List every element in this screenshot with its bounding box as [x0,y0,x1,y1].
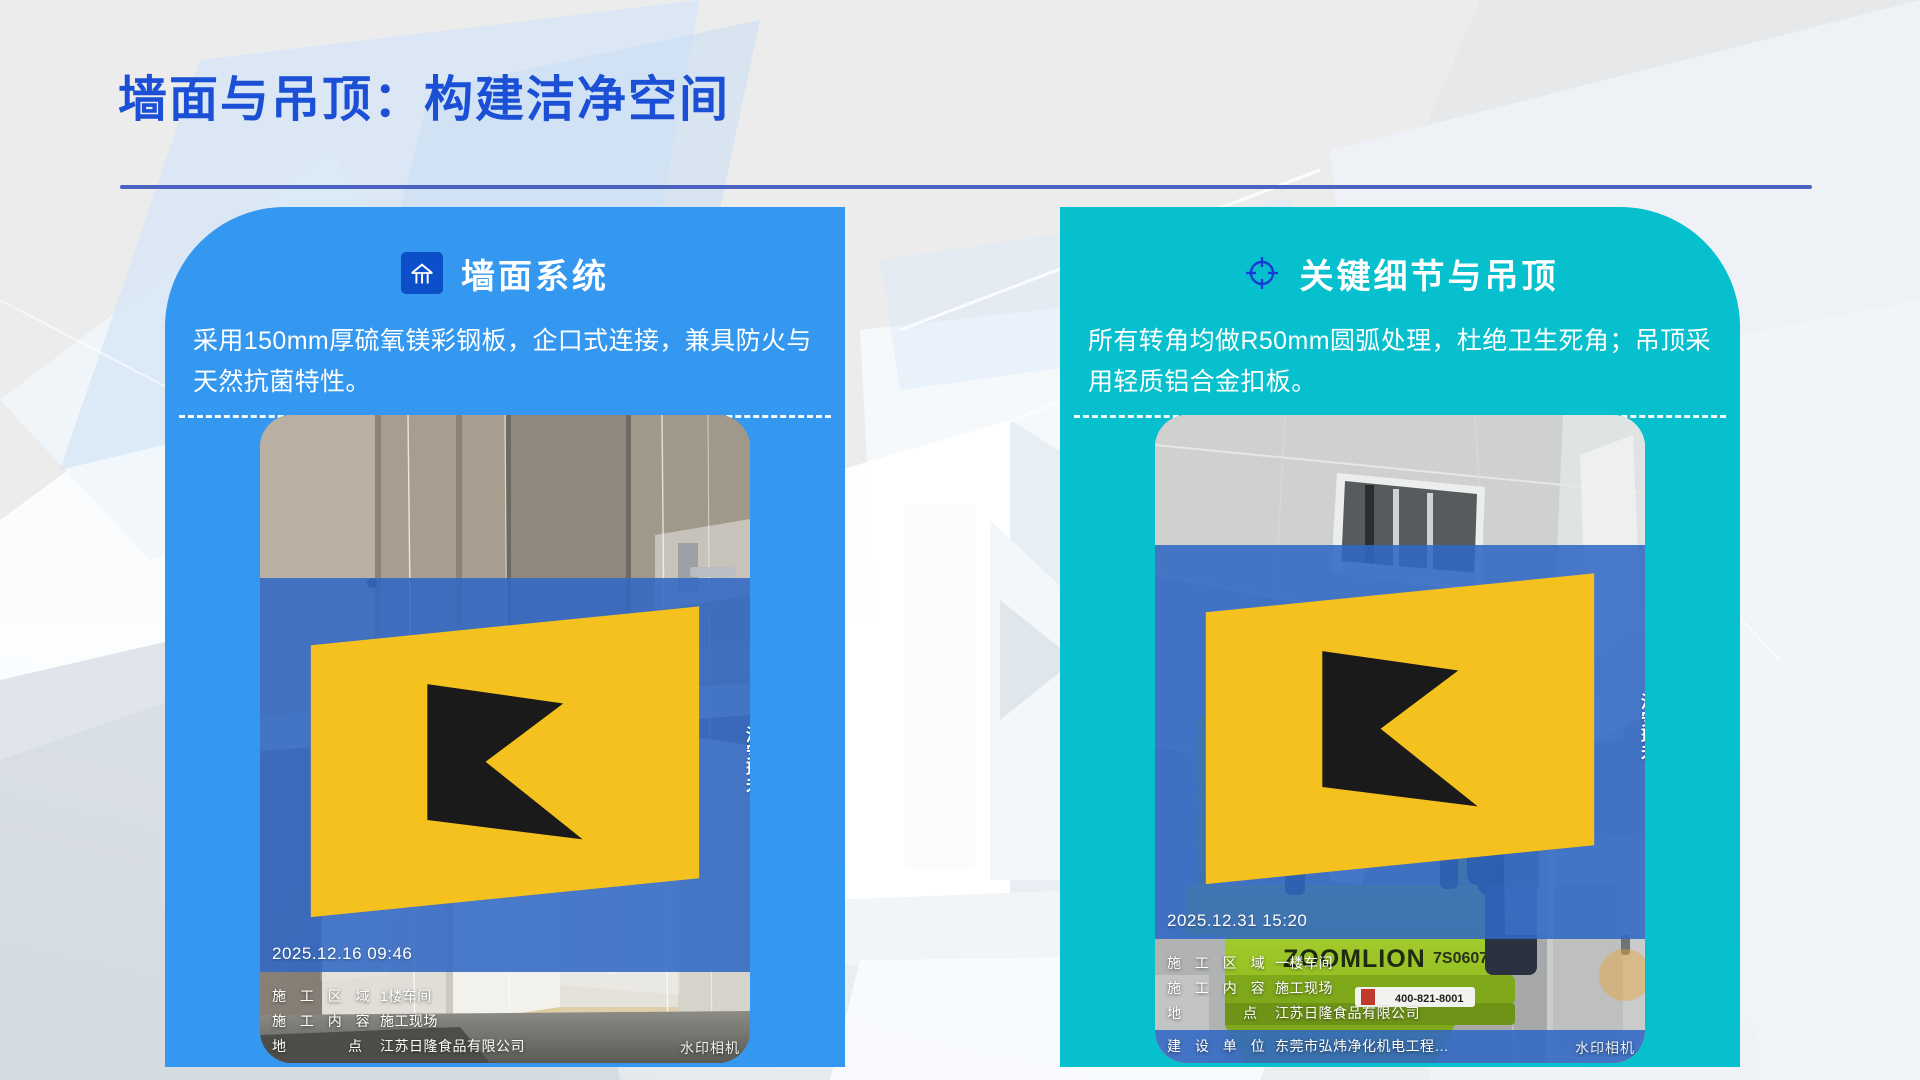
watermark-field-key: 施 工 区 域 [1167,956,1275,970]
watermark-field-key: 地 点 [272,1039,380,1053]
watermark-header: 淮安瑞禾 2025.12.16 09:46 [260,578,750,973]
watermark-field-value: 江苏日隆食品有限公司 [380,1039,525,1053]
building-house-icon [401,252,443,294]
photo-wall-system[interactable]: 淮安瑞禾 2025.12.16 09:46 施 工 区 域 1楼车间 施 工 内… [260,415,750,1063]
watermark-field-key: 地 点 [1167,1006,1275,1020]
watermark-field-key: 建 设 单 位 [1167,1039,1275,1053]
watermark-field-value: 一楼车间 [1275,956,1333,970]
card-description: 所有转角均做R50mm圆弧处理，杜绝卫生死角；吊顶采用轻质铝合金扣板。 [1088,321,1712,402]
watermark-camera-tag: 水印相机 [680,1041,740,1055]
page-title: 墙面与吊顶：构建洁净空间 [118,72,1818,128]
watermark-field-value: 施工现场 [1275,981,1333,995]
card-heading: 墙面系统 [461,249,609,298]
watermark-brand: 淮安瑞禾 [1641,694,1645,762]
watermark-field-row: 施 工 区 域 一楼车间 [1167,956,1633,970]
watermark-logo-icon [1167,554,1633,904]
card-wall-system[interactable]: 墙面系统 采用150mm厚硫氧镁彩钢板，企口式连接，兼具防火与天然抗菌特性。 [165,207,845,1067]
crosshair-target-icon [1242,253,1282,293]
watermark-field-value: 1楼车间 [380,989,432,1003]
watermark-timestamp: 2025.12.16 09:46 [272,945,738,962]
watermark-logo-icon [272,587,738,937]
page-title-container: 墙面与吊顶：构建洁净空间 [118,72,1818,128]
watermark-fields: 施 工 区 域 1楼车间 施 工 内 容 施工现场 地 点 江苏日隆食品有限公司 [260,972,750,1063]
card-header-details-ceiling: 关键细节与吊顶 [1060,247,1740,299]
card-description: 采用150mm厚硫氧镁彩钢板，企口式连接，兼具防火与天然抗菌特性。 [193,321,817,402]
watermark-field-row: 施 工 内 容 施工现场 [1167,981,1633,995]
watermark-field-key: 施 工 区 域 [272,989,380,1003]
photo-watermark-wall: 淮安瑞禾 2025.12.16 09:46 施 工 区 域 1楼车间 施 工 内… [260,578,750,1064]
watermark-camera-tag: 水印相机 [1575,1041,1635,1055]
watermark-field-key: 施 工 内 容 [272,1014,380,1028]
watermark-field-key: 施 工 内 容 [1167,981,1275,995]
title-underline-rule [120,185,1812,189]
card-heading: 关键细节与吊顶 [1300,249,1559,298]
watermark-timestamp: 2025.12.31 15:20 [1167,912,1633,929]
watermark-field-row: 施 工 区 域 1楼车间 [272,989,738,1003]
card-details-ceiling[interactable]: 关键细节与吊顶 所有转角均做R50mm圆弧处理，杜绝卫生死角；吊顶采用轻质铝合金… [1060,207,1740,1067]
photo-details-ceiling[interactable]: ZOOMLION 7S0607HA 400-821-8001 [1155,415,1645,1063]
watermark-field-value: 东莞市弘炜净化机电工程… [1275,1039,1449,1053]
watermark-fields: 施 工 区 域 一楼车间 施 工 内 容 施工现场 地 点 江苏日隆食品有限公司… [1155,939,1645,1063]
watermark-field-row: 施 工 内 容 施工现场 [272,1014,738,1028]
watermark-field-row: 建 设 单 位 东莞市弘炜净化机电工程… [1155,1030,1645,1063]
watermark-field-value: 江苏日隆食品有限公司 [1275,1006,1420,1020]
watermark-field-value: 施工现场 [380,1014,438,1028]
card-header-wall-system: 墙面系统 [165,247,845,299]
watermark-header: 淮安瑞禾 2025.12.31 15:20 [1155,545,1645,940]
watermark-field-row: 地 点 江苏日隆食品有限公司 [272,1039,738,1053]
watermark-field-row: 地 点 江苏日隆食品有限公司 [1167,1006,1633,1020]
watermark-brand: 淮安瑞禾 [746,727,750,795]
photo-watermark-ceiling: 淮安瑞禾 2025.12.31 15:20 施 工 区 域 一楼车间 施 工 内… [1155,545,1645,1064]
